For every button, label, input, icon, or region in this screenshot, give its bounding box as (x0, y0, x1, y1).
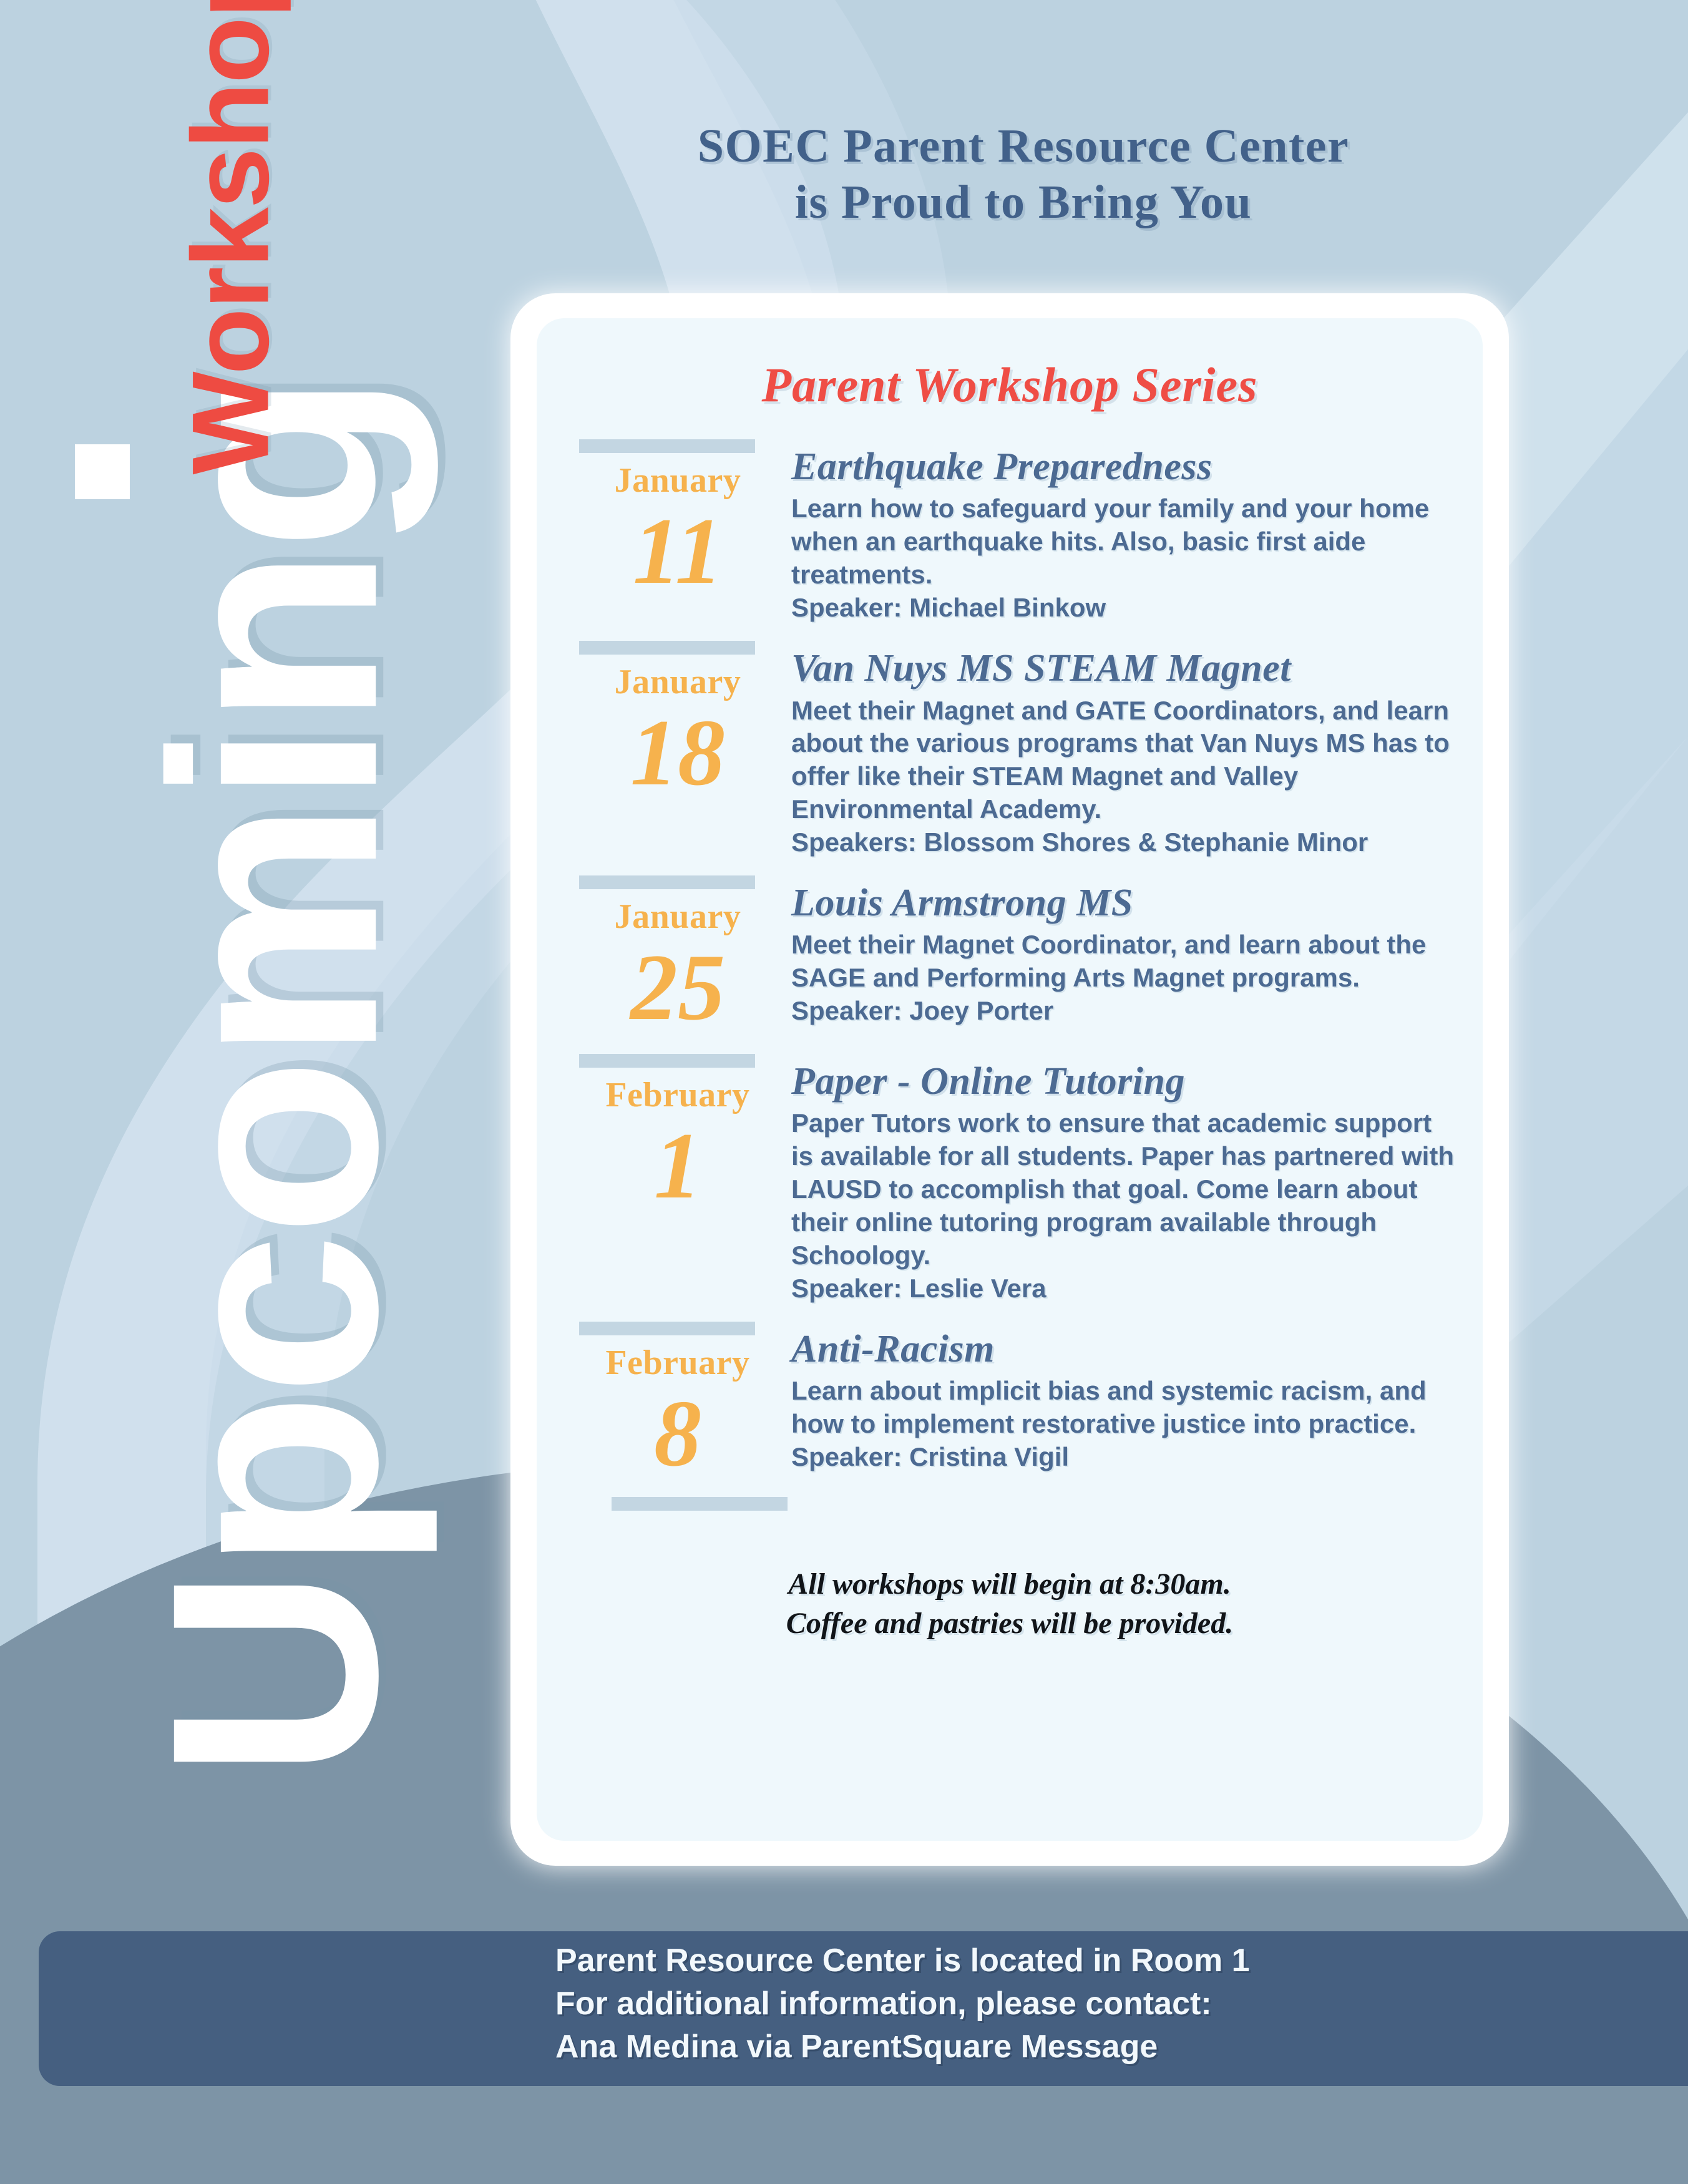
workshop-info: Earthquake Preparedness Learn how to saf… (786, 439, 1454, 625)
workshop-row: January 25 Louis Armstrong MS Meet their… (569, 875, 1454, 1038)
workshop-speaker: Speakers: Blossom Shores & Stephanie Min… (791, 826, 1454, 859)
workshop-speaker: Speaker: Leslie Vera (791, 1272, 1454, 1305)
workshop-day: 25 (569, 938, 786, 1038)
row-divider (579, 641, 755, 655)
workshop-title: Earthquake Preparedness (791, 446, 1454, 489)
workshop-title: Van Nuys MS STEAM Magnet (791, 647, 1454, 690)
workshop-day: 11 (569, 502, 786, 602)
workshop-day: 1 (569, 1116, 786, 1216)
workshop-row: January 18 Van Nuys MS STEAM Magnet Meet… (569, 641, 1454, 859)
row-divider (579, 439, 755, 453)
card-note-line-2: Coffee and pastries will be provided. (537, 1604, 1483, 1643)
footer-line-1: Parent Resource Center is located in Roo… (555, 1939, 1616, 1982)
workshop-description: Learn how to safeguard your family and y… (791, 492, 1454, 592)
workshop-info: Paper - Online Tutoring Paper Tutors wor… (786, 1054, 1454, 1305)
row-spacer (569, 625, 1454, 641)
headline-line-2: is Proud to Bring You (474, 175, 1573, 231)
workshop-month: January (569, 899, 786, 934)
workshop-title: Louis Armstrong MS (791, 882, 1454, 925)
workshop-list: January 11 Earthquake Preparedness Learn… (537, 439, 1483, 1511)
workshop-description: Meet their Magnet and GATE Coordinators,… (791, 695, 1454, 827)
workshop-speaker: Speaker: Cristina Vigil (791, 1441, 1454, 1474)
workshop-row: February 8 Anti-Racism Learn about impli… (569, 1322, 1454, 1484)
workshop-month: January (569, 665, 786, 700)
row-divider (579, 1054, 755, 1068)
row-divider (579, 875, 755, 889)
workshop-date: January 18 (569, 641, 786, 803)
page-title: SOEC Parent Resource Center is Proud to … (474, 119, 1573, 230)
workshop-speaker: Speaker: Joey Porter (791, 995, 1454, 1028)
series-title: Parent Workshop Series (537, 357, 1483, 413)
workshop-info: Anti-Racism Learn about implicit bias an… (786, 1322, 1454, 1474)
workshop-description: Meet their Magnet Coordinator, and learn… (791, 929, 1454, 995)
row-spacer (569, 1038, 1454, 1054)
row-spacer (569, 859, 1454, 875)
headline-line-1: SOEC Parent Resource Center (698, 120, 1350, 172)
flyer-poster: Upcoming Workshops SOEC Parent Resource … (0, 0, 1688, 2184)
row-spacer (569, 1305, 1454, 1322)
workshop-title: Anti-Racism (791, 1328, 1454, 1371)
workshop-row: February 1 Paper - Online Tutoring Paper… (569, 1054, 1454, 1305)
workshop-date: January 25 (569, 875, 786, 1038)
card-note: All workshops will begin at 8:30am. Coff… (537, 1564, 1483, 1644)
workshop-info: Louis Armstrong MS Meet their Magnet Coo… (786, 875, 1454, 1028)
workshop-month: February (569, 1345, 786, 1380)
workshop-day: 8 (569, 1384, 786, 1484)
workshop-speaker: Speaker: Michael Binkow (791, 592, 1454, 625)
workshop-card: Parent Workshop Series January 11 Earthq… (510, 293, 1509, 1866)
card-note-line-1: All workshops will begin at 8:30am. (537, 1564, 1483, 1604)
footer-contact-info: Parent Resource Center is located in Roo… (555, 1939, 1616, 2069)
workshop-title: Paper - Online Tutoring (791, 1060, 1454, 1103)
workshop-date: February 1 (569, 1054, 786, 1216)
workshop-row: January 11 Earthquake Preparedness Learn… (569, 439, 1454, 625)
workshop-month: January (569, 463, 786, 498)
row-divider (579, 1322, 755, 1335)
footer-line-3: Ana Medina via ParentSquare Message (555, 2026, 1616, 2069)
workshop-date: February 8 (569, 1322, 786, 1484)
workshop-description: Learn about implicit bias and systemic r… (791, 1375, 1454, 1441)
workshop-month: February (569, 1078, 786, 1113)
workshop-description: Paper Tutors work to ensure that academi… (791, 1107, 1454, 1272)
workshop-card-inner: Parent Workshop Series January 11 Earthq… (537, 318, 1483, 1841)
workshop-date: January 11 (569, 439, 786, 602)
workshop-day: 18 (569, 703, 786, 803)
row-divider-end (612, 1497, 788, 1511)
footer-line-2: For additional information, please conta… (555, 1982, 1616, 2026)
workshop-info: Van Nuys MS STEAM Magnet Meet their Magn… (786, 641, 1454, 859)
